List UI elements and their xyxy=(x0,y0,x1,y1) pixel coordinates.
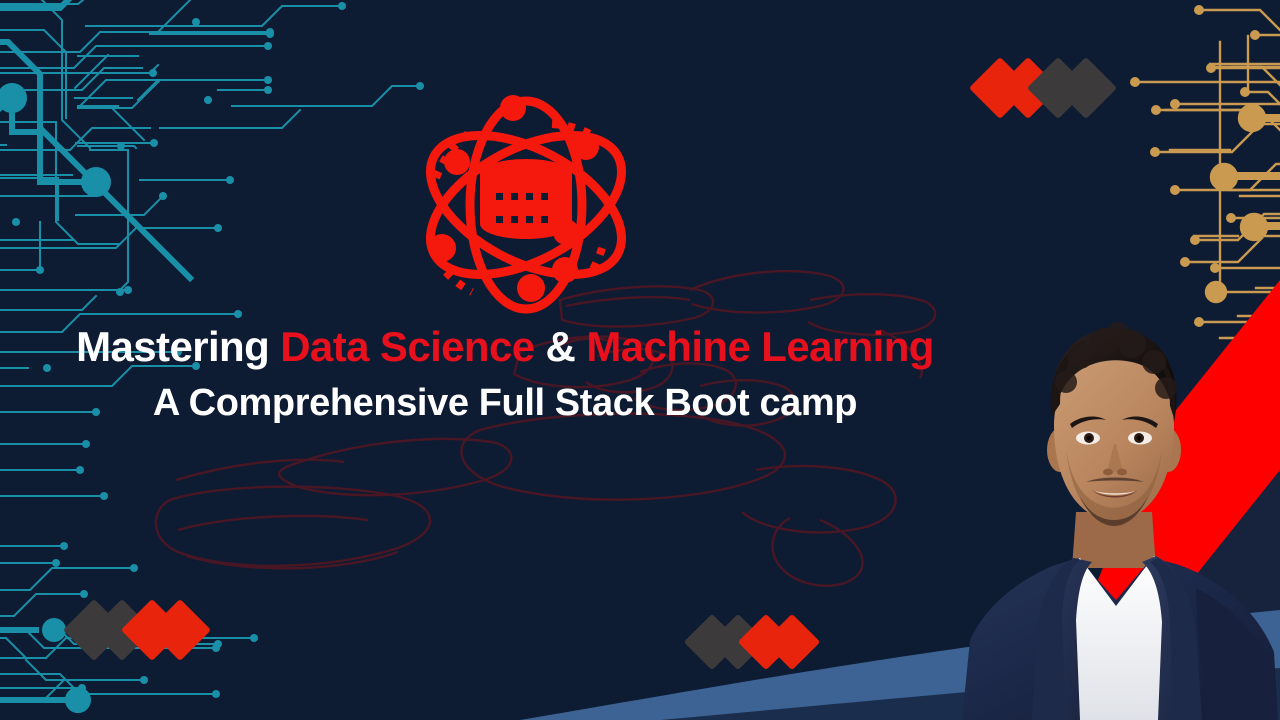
atom-database-logo xyxy=(406,92,646,318)
course-promo-banner: Mastering Data Science & Machine Learnin… xyxy=(0,0,1280,720)
headline-line-2: A Comprehensive Full Stack Boot camp xyxy=(0,384,1010,422)
headline-word-mastering: Mastering xyxy=(76,323,280,370)
headline-line-1: Mastering Data Science & Machine Learnin… xyxy=(0,326,1010,368)
headline-ampersand: & xyxy=(534,323,586,370)
headline-block: Mastering Data Science & Machine Learnin… xyxy=(0,326,1010,422)
headline-word-machine-learning: Machine Learning xyxy=(586,323,933,370)
instructor-portrait xyxy=(956,300,1280,720)
headline-word-data-science: Data Science xyxy=(280,323,534,370)
